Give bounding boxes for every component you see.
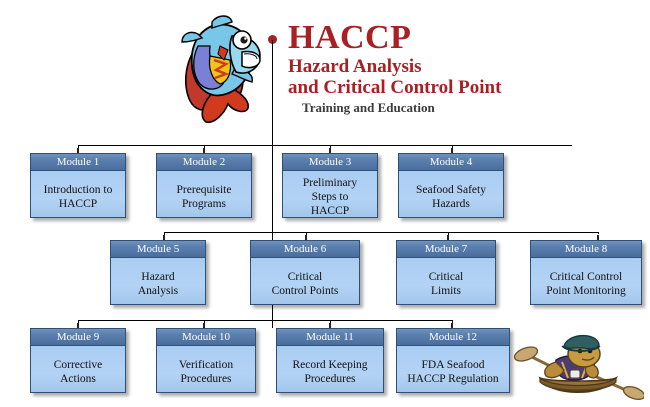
module-box-8-body: Critical ControlPoint Monitoring: [531, 258, 641, 305]
module-box-7-header: Module 7: [397, 241, 495, 258]
module-box-11[interactable]: Module 11 Record KeepingProcedures: [276, 328, 384, 393]
module-box-4-header: Module 4: [399, 154, 503, 171]
connector-bus-row-3: [78, 320, 452, 321]
module-box-4-body: Seafood SafetyHazards: [399, 171, 503, 218]
module-box-11-line-1: Record Keeping: [292, 358, 367, 372]
module-box-11-header: Module 11: [277, 329, 383, 346]
module-box-6-body: CriticalControl Points: [251, 258, 359, 305]
module-box-6-header: Module 6: [251, 241, 359, 258]
module-box-7-line-1: Critical: [429, 270, 464, 284]
module-box-11-line-2: Procedures: [292, 372, 367, 386]
module-box-1[interactable]: Module 1 Introduction toHACCP: [30, 153, 126, 218]
module-box-12-line-1: FDA Seafood: [407, 358, 498, 372]
superhero-fish-icon: [168, 12, 268, 124]
module-box-9-line-2: Actions: [54, 372, 103, 386]
module-box-3-line-2: Steps to: [303, 190, 357, 204]
module-box-1-header: Module 1: [31, 154, 125, 171]
module-box-1-body: Introduction toHACCP: [31, 171, 125, 218]
module-box-9-header: Module 9: [31, 329, 125, 346]
module-box-12-header: Module 12: [397, 329, 509, 346]
module-box-2-line-1: Prerequisite: [177, 183, 232, 197]
connector-bus-row-2: [164, 232, 598, 233]
module-box-9-line-1: Corrective: [54, 358, 103, 372]
module-box-7[interactable]: Module 7 CriticalLimits: [396, 240, 496, 305]
module-box-2-body: PrerequisitePrograms: [157, 171, 251, 218]
crab-in-rowboat-icon: [512, 334, 644, 402]
module-box-10-line-1: Verification: [179, 358, 233, 372]
module-box-8-line-1: Critical Control: [546, 270, 626, 284]
module-box-12-line-2: HACCP Regulation: [407, 372, 498, 386]
module-box-10-header: Module 10: [157, 329, 255, 346]
module-box-2-line-2: Programs: [177, 197, 232, 211]
module-box-6-line-2: Control Points: [272, 284, 339, 298]
module-box-4-line-1: Seafood Safety: [416, 183, 486, 197]
module-box-5-header: Module 5: [111, 241, 205, 258]
module-box-5[interactable]: Module 5 HazardAnalysis: [110, 240, 206, 305]
module-box-5-body: HazardAnalysis: [111, 258, 205, 305]
module-box-8[interactable]: Module 8 Critical ControlPoint Monitorin…: [530, 240, 642, 305]
module-box-2-header: Module 2: [157, 154, 251, 171]
tagline: Training and Education: [288, 98, 578, 116]
module-box-4[interactable]: Module 4 Seafood SafetyHazards: [398, 153, 504, 218]
connector-bus-row-1: [78, 145, 572, 146]
module-box-5-line-2: Analysis: [138, 284, 178, 298]
subtitle-line-2: and Critical Control Point: [288, 77, 578, 98]
module-box-7-line-2: Limits: [429, 284, 464, 298]
diagram-canvas: HACCP Hazard Analysis and Critical Contr…: [0, 0, 650, 407]
module-box-10-line-2: Procedures: [179, 372, 233, 386]
title-block: HACCP Hazard Analysis and Critical Contr…: [288, 20, 578, 116]
module-box-2[interactable]: Module 2 PrerequisitePrograms: [156, 153, 252, 218]
module-box-3-header: Module 3: [283, 154, 377, 171]
module-box-1-line-1: Introduction to: [44, 183, 113, 197]
module-box-9-body: CorrectiveActions: [31, 346, 125, 393]
module-box-1-line-2: HACCP: [44, 197, 113, 211]
module-box-4-line-2: Hazards: [416, 197, 486, 211]
module-box-9[interactable]: Module 9 CorrectiveActions: [30, 328, 126, 393]
module-box-11-body: Record KeepingProcedures: [277, 346, 383, 393]
connector-drop-m8: [598, 232, 599, 234]
page-title: HACCP: [288, 20, 578, 56]
module-box-10-body: VerificationProcedures: [157, 346, 255, 393]
module-box-12-body: FDA SeafoodHACCP Regulation: [397, 346, 509, 393]
module-box-3[interactable]: Module 3 PreliminarySteps toHACCP: [282, 153, 378, 218]
module-box-6-line-1: Critical: [272, 270, 339, 284]
module-box-3-body: PreliminarySteps toHACCP: [283, 171, 377, 218]
module-box-3-line-1: Preliminary: [303, 176, 357, 190]
module-box-8-line-2: Point Monitoring: [546, 284, 626, 298]
module-box-8-header: Module 8: [531, 241, 641, 258]
module-box-10[interactable]: Module 10 VerificationProcedures: [156, 328, 256, 393]
module-box-3-line-3: HACCP: [303, 204, 357, 218]
subtitle-line-1: Hazard Analysis: [288, 56, 578, 77]
module-box-7-body: CriticalLimits: [397, 258, 495, 305]
module-box-6[interactable]: Module 6 CriticalControl Points: [250, 240, 360, 305]
module-box-12[interactable]: Module 12 FDA SeafoodHACCP Regulation: [396, 328, 510, 393]
module-box-5-line-1: Hazard: [138, 270, 178, 284]
